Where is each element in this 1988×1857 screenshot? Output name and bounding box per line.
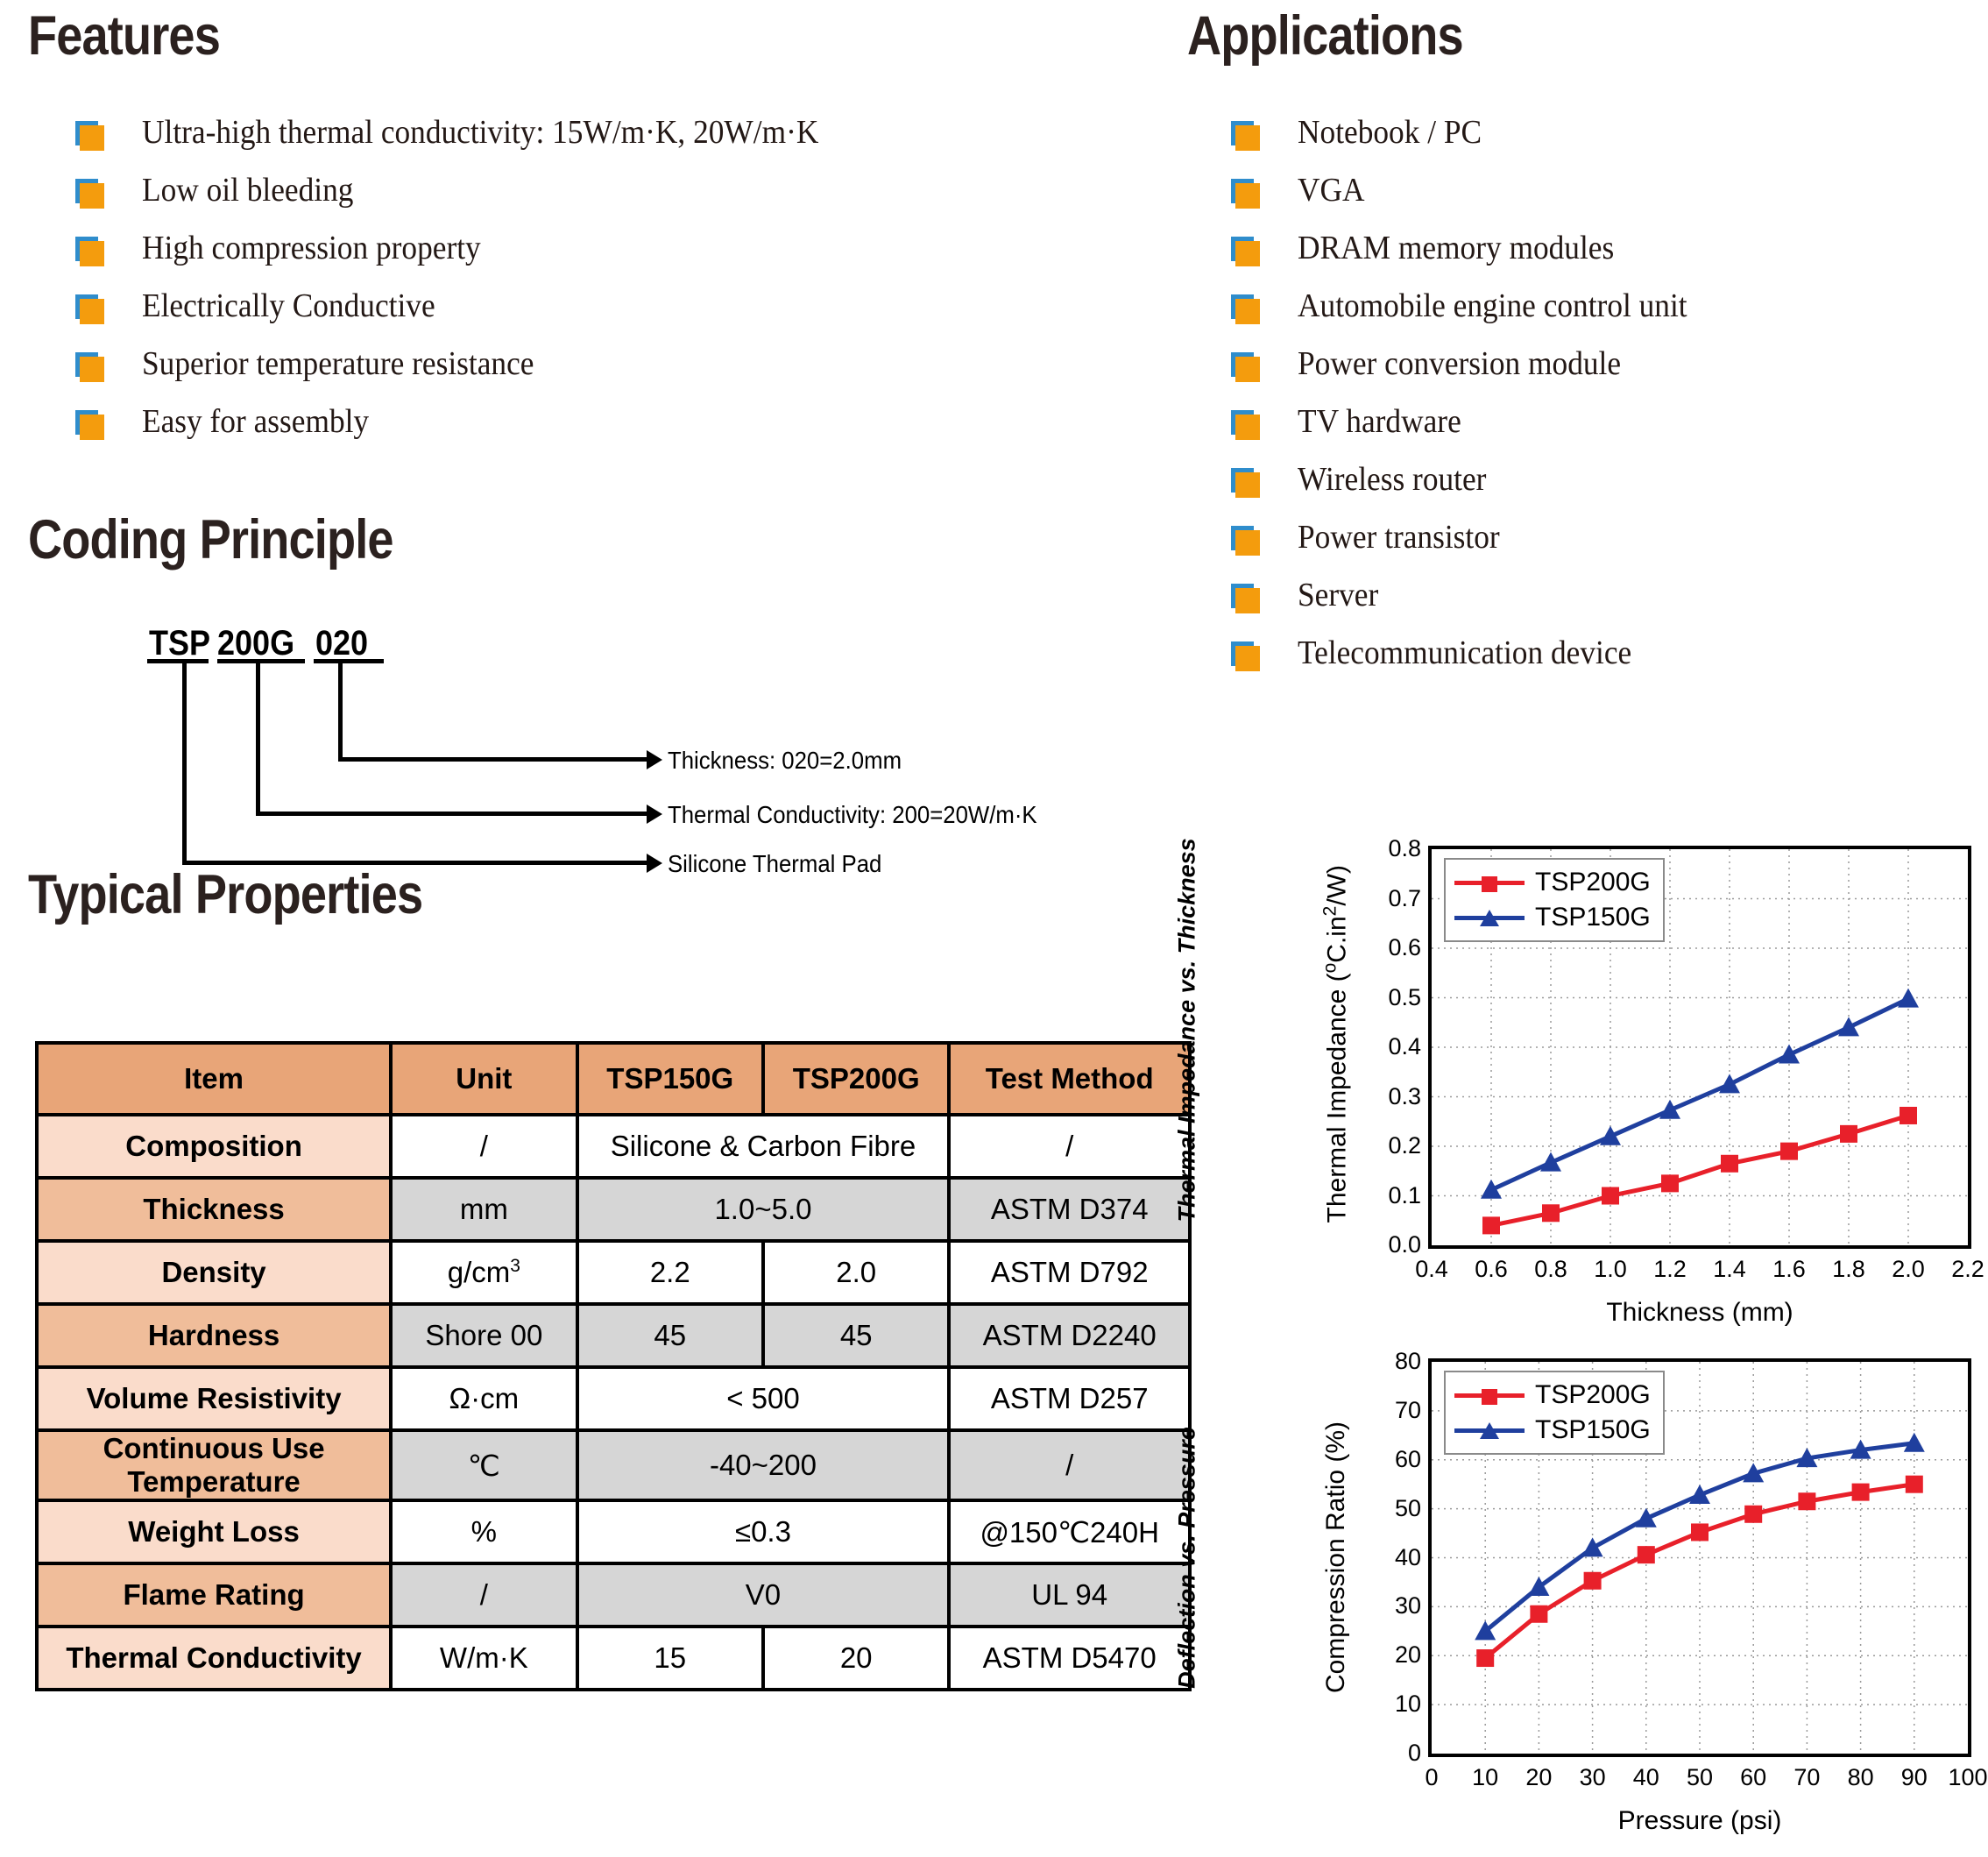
application-item-label: Wireless router <box>1298 459 1486 500</box>
leader-label-conductivity: Thermal Conductivity: 200=20W/m·K <box>668 801 1037 829</box>
code-underline-conductivity <box>217 659 305 663</box>
table-cell-value-merged: -40~200 <box>577 1430 950 1500</box>
table-cell-tsp150g: 15 <box>577 1627 763 1690</box>
y-axis-tick-label: 60 <box>1365 1446 1421 1473</box>
y-axis-tick-label: 0.3 <box>1365 1083 1421 1110</box>
coding-principle-diagram: TSP 200G 020 Thickness: 020=2.0mm Therma… <box>0 605 1174 854</box>
table-cell-test-method: UL 94 <box>949 1563 1190 1627</box>
feature-item: High compression property <box>75 228 1109 286</box>
table-cell-unit: W/m·K <box>391 1627 577 1690</box>
table-cell-test-method: ASTM D374 <box>949 1178 1190 1241</box>
chart1-y-axis-title: Thermal Impedance (oC.in2/W) <box>1320 873 1353 1223</box>
page-title-typical-properties: Typical Properties <box>28 863 422 926</box>
feature-item-label: Easy for assembly <box>142 401 369 442</box>
applications-list: Notebook / PCVGADRAM memory modulesAutom… <box>1231 112 1949 691</box>
leader-label-thickness: Thickness: 020=2.0mm <box>668 747 902 775</box>
leader-vertical-thickness <box>338 659 343 761</box>
y-axis-tick-label: 50 <box>1365 1495 1421 1522</box>
leader-arrow-pad <box>647 854 662 873</box>
bullet-square-icon <box>75 237 103 266</box>
feature-item: Electrically Conductive <box>75 286 1109 344</box>
application-item: Power transistor <box>1231 517 1949 575</box>
chart1-legend: TSP200GTSP150G <box>1444 858 1665 942</box>
application-item: Wireless router <box>1231 459 1949 517</box>
application-item-label: VGA <box>1298 170 1365 210</box>
y-axis-tick-label: 30 <box>1365 1592 1421 1620</box>
y-axis-tick-label: 0.7 <box>1365 885 1421 912</box>
application-item-label: Notebook / PC <box>1298 112 1482 152</box>
application-item: Power conversion module <box>1231 344 1949 401</box>
legend-label: TSP150G <box>1535 1415 1651 1445</box>
code-token-conductivity: 200G <box>217 624 294 663</box>
table-cell-unit: % <box>391 1500 577 1563</box>
feature-item: Ultra-high thermal conductivity: 15W/m·K… <box>75 112 1109 170</box>
code-underline-prefix <box>147 659 209 663</box>
table-cell-unit: Ω·cm <box>391 1367 577 1430</box>
leader-arrow-conductivity <box>647 804 662 824</box>
x-axis-tick-label: 100 <box>1933 1764 1988 1791</box>
table-row: Flame Rating/V0UL 94 <box>37 1563 1190 1627</box>
feature-item-label: Electrically Conductive <box>142 286 435 326</box>
table-column-header: Test Method <box>949 1043 1190 1115</box>
application-item-label: Server <box>1298 575 1378 615</box>
leader-horizontal-conductivity <box>256 812 648 816</box>
feature-item-label: Superior temperature resistance <box>142 344 534 384</box>
table-cell-item: Continuous UseTemperature <box>37 1430 391 1500</box>
table-row: Weight Loss%≤0.3@150℃240H <box>37 1500 1190 1563</box>
table-cell-tsp200g: 2.0 <box>763 1241 949 1304</box>
table-column-header: TSP150G <box>577 1043 763 1115</box>
y-axis-tick-label: 0.2 <box>1365 1132 1421 1159</box>
features-list: Ultra-high thermal conductivity: 15W/m·K… <box>75 112 1109 459</box>
legend-triangle-marker-icon <box>1454 908 1525 927</box>
y-axis-tick-label: 0.5 <box>1365 984 1421 1011</box>
table-row: Thermal ConductivityW/m·K1520ASTM D5470 <box>37 1627 1190 1690</box>
bullet-square-icon <box>1231 237 1259 266</box>
code-underline-thickness <box>314 659 384 663</box>
bullet-square-icon <box>1231 410 1259 440</box>
table-cell-test-method: / <box>949 1115 1190 1178</box>
table-cell-value-merged: ≤0.3 <box>577 1500 950 1563</box>
page-title-features: Features <box>28 4 220 67</box>
y-axis-tick-label: 10 <box>1365 1690 1421 1718</box>
table-row: Densityg/cm32.22.0ASTM D792 <box>37 1241 1190 1304</box>
table-cell-item: Density <box>37 1241 391 1304</box>
table-row: Volume ResistivityΩ·cm< 500ASTM D257 <box>37 1367 1190 1430</box>
table-cell-item: Hardness <box>37 1304 391 1367</box>
page-title-applications: Applications <box>1187 4 1463 67</box>
y-axis-tick-label: 20 <box>1365 1641 1421 1669</box>
table-cell-value-merged: 1.0~5.0 <box>577 1178 950 1241</box>
table-cell-unit: / <box>391 1115 577 1178</box>
table-cell-test-method: / <box>949 1430 1190 1500</box>
application-item-label: TV hardware <box>1298 401 1461 442</box>
feature-item: Low oil bleeding <box>75 170 1109 228</box>
table-cell-test-method: ASTM D5470 <box>949 1627 1190 1690</box>
table-column-header: Unit <box>391 1043 577 1115</box>
legend-triangle-marker-icon <box>1454 1421 1525 1440</box>
page-title-coding-principle: Coding Principle <box>28 508 393 571</box>
application-item-label: Power conversion module <box>1298 344 1621 384</box>
table-row: HardnessShore 004545ASTM D2240 <box>37 1304 1190 1367</box>
application-item-label: Power transistor <box>1298 517 1500 557</box>
application-item: Automobile engine control unit <box>1231 286 1949 344</box>
legend-square-marker-icon <box>1454 873 1525 892</box>
chart1-x-axis-title: Thickness (mm) <box>1428 1298 1971 1328</box>
bullet-square-icon <box>1231 468 1259 498</box>
legend-entry: TSP150G <box>1454 1413 1651 1448</box>
table-cell-test-method: ASTM D257 <box>949 1367 1190 1430</box>
application-item: TV hardware <box>1231 401 1949 459</box>
table-cell-test-method: ASTM D2240 <box>949 1304 1190 1367</box>
feature-item-label: Low oil bleeding <box>142 170 353 210</box>
bullet-square-icon <box>1231 179 1259 209</box>
leader-horizontal-pad <box>182 861 648 865</box>
y-axis-tick-label: 0.8 <box>1365 835 1421 862</box>
application-item-label: DRAM memory modules <box>1298 228 1614 268</box>
table-cell-item: Flame Rating <box>37 1563 391 1627</box>
y-axis-tick-label: 0 <box>1365 1740 1421 1767</box>
application-item-label: Automobile engine control unit <box>1298 286 1687 326</box>
bullet-square-icon <box>1231 526 1259 556</box>
chart2-outer-title: Deflection vs. Pressure <box>1174 1382 1201 1733</box>
leader-vertical-conductivity <box>256 659 260 815</box>
application-item: VGA <box>1231 170 1949 228</box>
bullet-square-icon <box>75 121 103 151</box>
table-cell-tsp200g: 45 <box>763 1304 949 1367</box>
application-item-label: Telecommunication device <box>1298 633 1631 673</box>
bullet-square-icon <box>75 410 103 440</box>
table-header-row: ItemUnitTSP150GTSP200GTest Method <box>37 1043 1190 1115</box>
application-item: Telecommunication device <box>1231 633 1949 691</box>
y-axis-tick-label: 0.6 <box>1365 934 1421 961</box>
bullet-square-icon <box>1231 641 1259 671</box>
y-axis-tick-label: 40 <box>1365 1544 1421 1571</box>
code-token-thickness: 020 <box>315 624 368 663</box>
leader-horizontal-thickness <box>338 757 648 762</box>
chart2-x-axis-title: Pressure (psi) <box>1428 1806 1971 1836</box>
table-cell-value-merged: < 500 <box>577 1367 950 1430</box>
table-cell-test-method: ASTM D792 <box>949 1241 1190 1304</box>
table-cell-item: Weight Loss <box>37 1500 391 1563</box>
bullet-square-icon <box>75 179 103 209</box>
bullet-square-icon <box>1231 294 1259 324</box>
y-axis-tick-label: 70 <box>1365 1397 1421 1424</box>
table-cell-unit: g/cm3 <box>391 1241 577 1304</box>
bullet-square-icon <box>75 294 103 324</box>
legend-entry: TSP200G <box>1454 1378 1651 1413</box>
table-cell-value-merged: Silicone & Carbon Fibre <box>577 1115 950 1178</box>
bullet-square-icon <box>1231 584 1259 613</box>
leader-label-pad: Silicone Thermal Pad <box>668 850 881 878</box>
typical-properties-table: ItemUnitTSP150GTSP200GTest Method Compos… <box>35 1041 1192 1691</box>
table-cell-tsp200g: 20 <box>763 1627 949 1690</box>
application-item: Notebook / PC <box>1231 112 1949 170</box>
table-cell-item: Thickness <box>37 1178 391 1241</box>
legend-entry: TSP200G <box>1454 865 1651 900</box>
table-cell-unit: / <box>391 1563 577 1627</box>
chart-thermal-impedance: Thermal Impedance vs. Thickness Thermal … <box>1209 828 1988 1328</box>
table-cell-tsp150g: 2.2 <box>577 1241 763 1304</box>
table-column-header: Item <box>37 1043 391 1115</box>
feature-item: Superior temperature resistance <box>75 344 1109 401</box>
table-row: Thicknessmm1.0~5.0ASTM D374 <box>37 1178 1190 1241</box>
leader-arrow-thickness <box>647 750 662 769</box>
chart2-legend: TSP200GTSP150G <box>1444 1371 1665 1455</box>
table-cell-test-method: @150℃240H <box>949 1500 1190 1563</box>
y-axis-tick-label: 80 <box>1365 1348 1421 1375</box>
application-item: DRAM memory modules <box>1231 228 1949 286</box>
table-cell-item: Composition <box>37 1115 391 1178</box>
y-axis-tick-label: 0.0 <box>1365 1231 1421 1258</box>
y-axis-tick-label: 0.1 <box>1365 1182 1421 1209</box>
chart-deflection-pressure: Deflection vs. Pressure Compression Rati… <box>1209 1341 1988 1849</box>
x-axis-tick-label: 2.2 <box>1933 1256 1988 1283</box>
application-item: Server <box>1231 575 1949 633</box>
table-cell-unit: Shore 00 <box>391 1304 577 1367</box>
legend-entry: TSP150G <box>1454 900 1651 935</box>
bullet-square-icon <box>1231 121 1259 151</box>
feature-item: Easy for assembly <box>75 401 1109 459</box>
chart1-outer-title: Thermal Impedance vs. Thickness <box>1174 872 1201 1223</box>
leader-vertical-pad <box>182 659 187 864</box>
code-token-prefix: TSP <box>149 624 210 663</box>
legend-label: TSP200G <box>1535 1380 1651 1410</box>
chart2-y-axis-title: Compression Ratio (%) <box>1321 1382 1351 1733</box>
y-axis-tick-label: 0.4 <box>1365 1033 1421 1060</box>
legend-label: TSP150G <box>1535 903 1651 932</box>
table-row: Composition/Silicone & Carbon Fibre/ <box>37 1115 1190 1178</box>
feature-item-label: Ultra-high thermal conductivity: 15W/m·K… <box>142 112 818 152</box>
table-cell-value-merged: V0 <box>577 1563 950 1627</box>
legend-label: TSP200G <box>1535 868 1651 897</box>
table-cell-unit: ℃ <box>391 1430 577 1500</box>
table-cell-item: Volume Resistivity <box>37 1367 391 1430</box>
legend-square-marker-icon <box>1454 1386 1525 1405</box>
bullet-square-icon <box>1231 352 1259 382</box>
table-cell-unit: mm <box>391 1178 577 1241</box>
table-cell-tsp150g: 45 <box>577 1304 763 1367</box>
feature-item-label: High compression property <box>142 228 481 268</box>
table-row: Continuous UseTemperature℃-40~200/ <box>37 1430 1190 1500</box>
table-cell-item: Thermal Conductivity <box>37 1627 391 1690</box>
table-column-header: TSP200G <box>763 1043 949 1115</box>
bullet-square-icon <box>75 352 103 382</box>
